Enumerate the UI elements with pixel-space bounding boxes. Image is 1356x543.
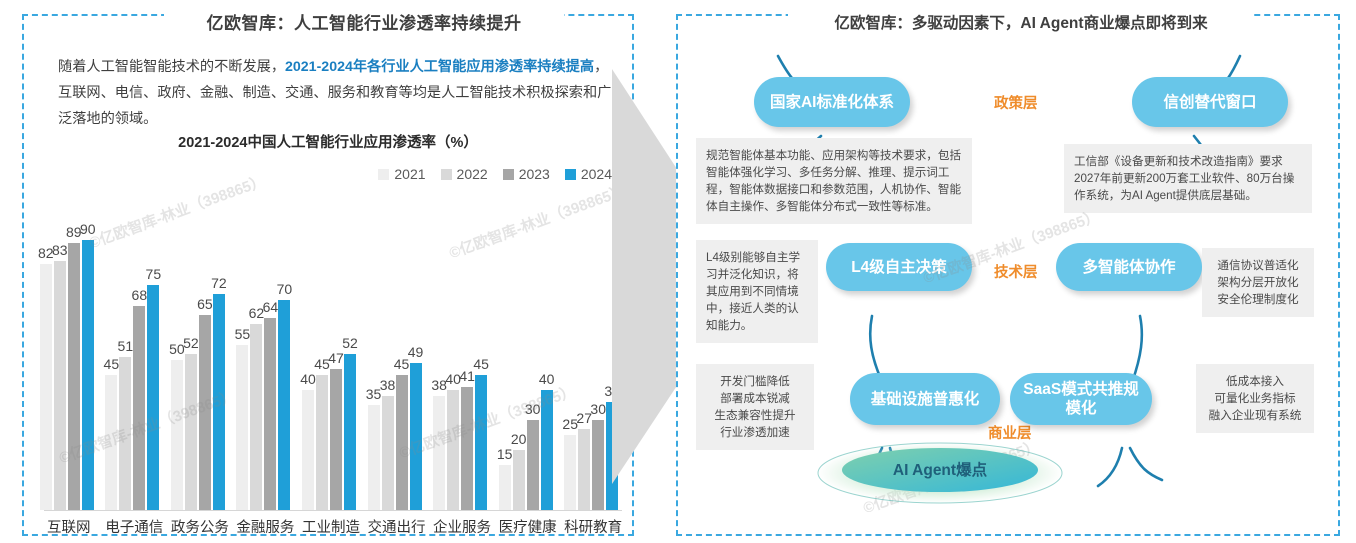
bar-value-label: 36 bbox=[604, 383, 620, 399]
bar-2023-交通出行[interactable]: 45 bbox=[396, 375, 408, 510]
bar-2023-企业服务[interactable]: 41 bbox=[461, 387, 473, 510]
bar-value-label: 55 bbox=[235, 326, 251, 342]
bar-2024-企业服务[interactable]: 45 bbox=[475, 375, 487, 510]
bar-group-5: 35384549 bbox=[368, 363, 422, 510]
core-node-ai-agent-burst[interactable]: AI Agent爆点 bbox=[828, 447, 1052, 491]
bar-2024-工业制造[interactable]: 52 bbox=[344, 354, 356, 510]
bar-2022-医疗健康[interactable]: 20 bbox=[513, 450, 525, 510]
layer-label-technology: 技术层 bbox=[994, 261, 1038, 282]
legend-item-2022[interactable]: 2022 bbox=[441, 166, 488, 182]
x-axis-label: 互联网 bbox=[36, 516, 102, 537]
bar-2024-医疗健康[interactable]: 40 bbox=[541, 390, 553, 510]
bar-value-label: 45 bbox=[104, 356, 120, 372]
bar-2024-政务公务[interactable]: 72 bbox=[213, 294, 225, 510]
chart-title: 2021-2024中国人工智能行业应用渗透率（%） bbox=[24, 131, 632, 152]
intro-highlight: 2021-2024年各行业人工智能应用渗透率持续提高 bbox=[285, 59, 594, 75]
bar-2022-互联网[interactable]: 83 bbox=[54, 261, 66, 510]
intro-text-part1: 随着人工智能智能技术的不断发展， bbox=[58, 59, 285, 75]
left-panel-title: 亿欧智库：人工智能行业渗透率持续提升 bbox=[164, 14, 564, 34]
legend-item-2021[interactable]: 2021 bbox=[378, 166, 425, 182]
bar-2021-政务公务[interactable]: 50 bbox=[171, 360, 183, 510]
bar-2022-交通出行[interactable]: 38 bbox=[382, 396, 394, 510]
legend-label: 2022 bbox=[457, 166, 488, 182]
x-axis-label: 政务公务 bbox=[167, 516, 233, 537]
bar-2023-医疗健康[interactable]: 30 bbox=[527, 420, 539, 510]
legend-swatch-icon bbox=[378, 169, 389, 180]
legend-label: 2021 bbox=[394, 166, 425, 182]
bar-group-8: 25273036 bbox=[564, 402, 618, 510]
bar-group-7: 15203040 bbox=[499, 390, 553, 510]
bar-value-label: 70 bbox=[277, 281, 293, 297]
bar-2024-金融服务[interactable]: 70 bbox=[278, 300, 290, 510]
bar-2023-金融服务[interactable]: 64 bbox=[264, 318, 276, 510]
bar-2023-互联网[interactable]: 89 bbox=[68, 243, 80, 510]
bar-2022-企业服务[interactable]: 40 bbox=[447, 390, 459, 510]
note-threshold: 开发门槛降低 部署成本锐减 生态兼容性提升 行业渗透加速 bbox=[696, 364, 814, 450]
bar-group-4: 40454752 bbox=[302, 354, 356, 510]
node-l4-autonomous-decision[interactable]: L4级自主决策 bbox=[826, 243, 972, 291]
bar-value-label: 52 bbox=[183, 335, 199, 351]
bar-value-label: 47 bbox=[328, 350, 344, 366]
bar-group-1: 45516875 bbox=[105, 285, 159, 510]
bar-value-label: 68 bbox=[132, 287, 148, 303]
note-l4: L4级别能够自主学习并泛化知识，将其应用到不同情境中，接近人类的认知能力。 bbox=[696, 240, 818, 343]
bar-value-label: 40 bbox=[539, 371, 555, 387]
bar-value-label: 30 bbox=[525, 401, 541, 417]
bar-value-label: 75 bbox=[146, 266, 162, 282]
x-axis-label: 电子通信 bbox=[102, 516, 168, 537]
bar-group-6: 38404145 bbox=[433, 375, 487, 510]
bar-2021-工业制造[interactable]: 40 bbox=[302, 390, 314, 510]
bar-value-label: 83 bbox=[52, 242, 68, 258]
bar-group-0: 82838990 bbox=[40, 240, 94, 510]
node-national-ai-standard[interactable]: 国家AI标准化体系 bbox=[754, 77, 910, 127]
left-panel: 亿欧智库：人工智能行业渗透率持续提升 随着人工智能智能技术的不断发展，2021-… bbox=[22, 14, 634, 536]
bar-2024-互联网[interactable]: 90 bbox=[82, 240, 94, 510]
bar-value-label: 52 bbox=[342, 335, 358, 351]
legend-swatch-icon bbox=[441, 169, 452, 180]
legend-swatch-icon bbox=[503, 169, 514, 180]
x-axis-label: 企业服务 bbox=[429, 516, 495, 537]
node-multi-agent-collaboration[interactable]: 多智能体协作 bbox=[1056, 243, 1202, 291]
legend-item-2023[interactable]: 2023 bbox=[503, 166, 550, 182]
bar-2021-电子通信[interactable]: 45 bbox=[105, 375, 117, 510]
legend-swatch-icon bbox=[565, 169, 576, 180]
bar-2021-互联网[interactable]: 82 bbox=[40, 264, 52, 510]
bar-2022-科研教育[interactable]: 27 bbox=[578, 429, 590, 510]
bar-2023-政务公务[interactable]: 65 bbox=[199, 315, 211, 510]
x-axis-label: 金融服务 bbox=[233, 516, 299, 537]
bar-chart-plot: 8283899045516875505265725562647040454752… bbox=[36, 191, 626, 511]
bar-value-label: 72 bbox=[211, 275, 227, 291]
bar-2021-金融服务[interactable]: 55 bbox=[236, 345, 248, 510]
legend-label: 2023 bbox=[519, 166, 550, 182]
x-axis-line bbox=[44, 510, 622, 511]
infographic-root: 亿欧智库：人工智能行业渗透率持续提升 随着人工智能智能技术的不断发展，2021-… bbox=[0, 0, 1356, 543]
bar-2023-工业制造[interactable]: 47 bbox=[330, 369, 342, 510]
note-xinchuang: 工信部《设备更新和技术改造指南》要求2027年前更新200万套工业软件、80万台… bbox=[1064, 144, 1312, 213]
bar-value-label: 30 bbox=[590, 401, 606, 417]
bar-value-label: 40 bbox=[300, 371, 316, 387]
node-saas-scale[interactable]: SaaS模式共推规模化 bbox=[1010, 373, 1152, 425]
x-axis-label: 工业制造 bbox=[298, 516, 364, 537]
bar-value-label: 38 bbox=[380, 377, 396, 393]
intro-paragraph: 随着人工智能智能技术的不断发展，2021-2024年各行业人工智能应用渗透率持续… bbox=[58, 54, 618, 132]
bar-2021-交通出行[interactable]: 35 bbox=[368, 405, 380, 510]
node-xinchuang-window[interactable]: 信创替代窗口 bbox=[1132, 77, 1288, 127]
bar-2022-金融服务[interactable]: 62 bbox=[250, 324, 262, 510]
bar-2024-科研教育[interactable]: 36 bbox=[606, 402, 618, 510]
note-lowcost: 低成本接入 可量化业务指标 融入企业现有系统 bbox=[1196, 364, 1314, 433]
layer-label-policy: 政策层 bbox=[994, 92, 1038, 113]
bar-2021-企业服务[interactable]: 38 bbox=[433, 396, 445, 510]
note-protocol: 通信协议普适化 架构分层开放化 安全伦理制度化 bbox=[1202, 248, 1314, 317]
bar-2022-工业制造[interactable]: 45 bbox=[316, 375, 328, 510]
node-infrastructure-inclusive[interactable]: 基础设施普惠化 bbox=[850, 373, 1000, 425]
bar-value-label: 45 bbox=[473, 356, 489, 372]
bar-value-label: 49 bbox=[408, 344, 424, 360]
chart-legend: 2021202220232024 bbox=[378, 166, 612, 182]
bar-value-label: 15 bbox=[497, 446, 513, 462]
legend-label: 2024 bbox=[581, 166, 612, 182]
bar-group-2: 50526572 bbox=[171, 294, 225, 510]
x-axis-label: 交通出行 bbox=[364, 516, 430, 537]
bar-2023-电子通信[interactable]: 68 bbox=[133, 306, 145, 510]
bar-2021-科研教育[interactable]: 25 bbox=[564, 435, 576, 510]
bar-2021-医疗健康[interactable]: 15 bbox=[499, 465, 511, 510]
bar-2024-电子通信[interactable]: 75 bbox=[147, 285, 159, 510]
bar-2022-政务公务[interactable]: 52 bbox=[185, 354, 197, 510]
bar-2023-科研教育[interactable]: 30 bbox=[592, 420, 604, 510]
note-standard: 规范智能体基本功能、应用架构等技术要求，包括智能体强化学习、多任务分解、推理、提… bbox=[696, 138, 972, 224]
bar-value-label: 20 bbox=[511, 431, 527, 447]
bar-value-label: 90 bbox=[80, 221, 96, 237]
bar-group-3: 55626470 bbox=[236, 300, 290, 510]
bar-value-label: 64 bbox=[263, 299, 279, 315]
bar-2022-电子通信[interactable]: 51 bbox=[119, 357, 131, 510]
bar-value-label: 51 bbox=[118, 338, 134, 354]
x-axis-label: 科研教育 bbox=[560, 516, 626, 537]
bar-2024-交通出行[interactable]: 49 bbox=[410, 363, 422, 510]
legend-item-2024[interactable]: 2024 bbox=[565, 166, 612, 182]
x-axis-labels: 互联网电子通信政务公务金融服务工业制造交通出行企业服务医疗健康科研教育 bbox=[36, 516, 626, 537]
x-axis-label: 医疗健康 bbox=[495, 516, 561, 537]
bar-value-label: 65 bbox=[197, 296, 213, 312]
